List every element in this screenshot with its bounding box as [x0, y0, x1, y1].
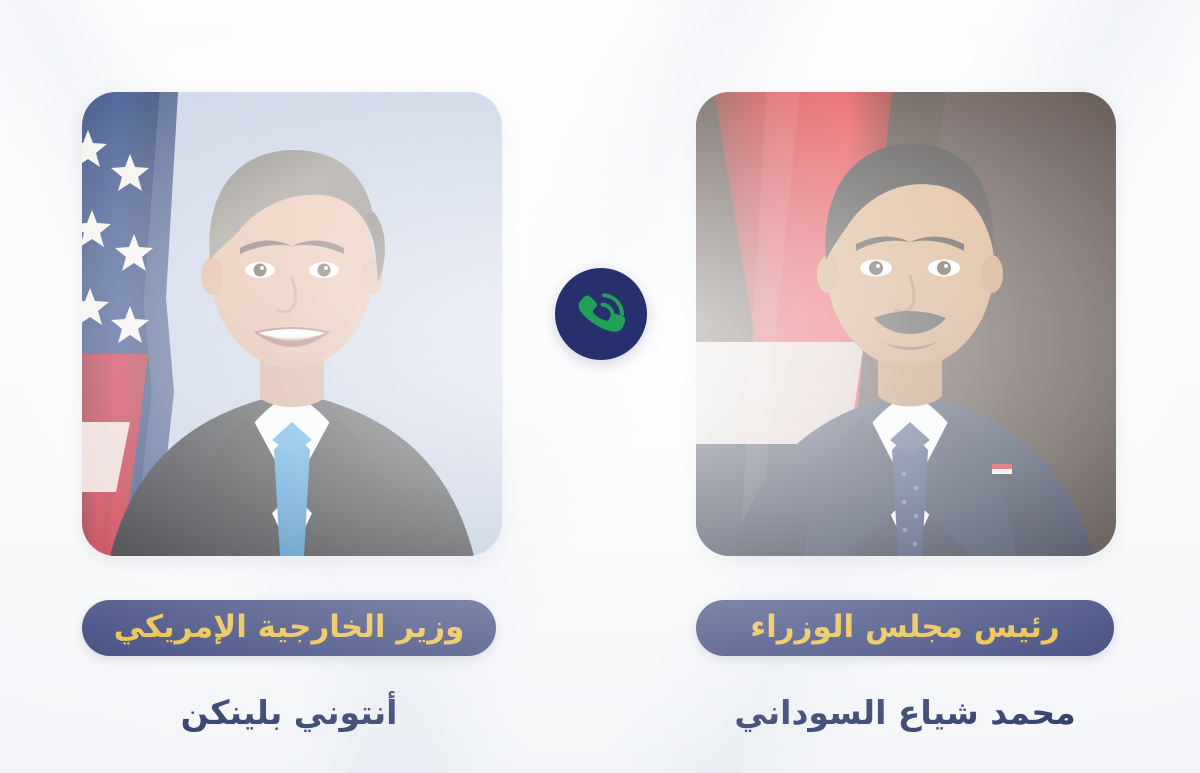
portrait-photo-left [82, 92, 502, 556]
portrait-photo-right [696, 92, 1116, 556]
title-pill-left: وزير الخارجية الإمريكي [82, 600, 496, 656]
poster-canvas: وزير الخارجية الإمريكي أنتوني بلينكن [0, 0, 1200, 773]
title-text-right: رئيس مجلس الوزراء [750, 612, 1059, 643]
person-name-left: أنتوني بلينكن [82, 686, 496, 738]
call-badge [555, 268, 647, 360]
person-name-right: محمد شياع السوداني [696, 686, 1114, 738]
title-text-left: وزير الخارجية الإمريكي [114, 612, 465, 643]
title-pill-right: رئيس مجلس الوزراء [696, 600, 1114, 656]
phone-call-icon [576, 289, 626, 339]
